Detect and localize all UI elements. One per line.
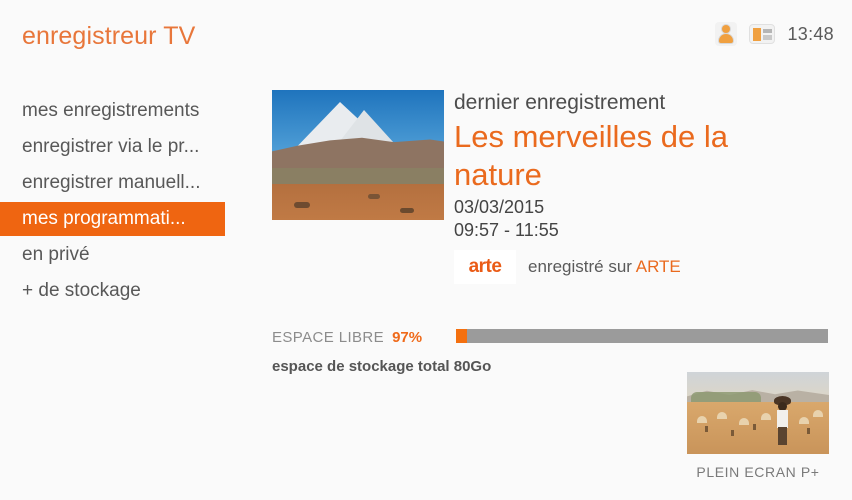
storage-total-label: espace de stockage total: [272, 358, 450, 375]
clock: 13:48: [787, 24, 834, 45]
storage-bar-used: [456, 329, 467, 343]
storage-bar: [456, 329, 828, 343]
storage-free-percent: 97%: [392, 329, 422, 346]
section-label: dernier enregistrement: [454, 90, 852, 116]
sidebar-item-plus-de-stockage[interactable]: + de stockage: [0, 274, 240, 308]
channel-name: ARTE: [636, 257, 681, 276]
pip-figure: [705, 426, 708, 432]
storage-free-row: ESPACE LIBRE 97%: [272, 328, 832, 346]
pip-mound: [813, 410, 823, 417]
pip-person-body: [777, 410, 788, 428]
id-card-line-1: [763, 29, 772, 33]
status-area: 13:48: [715, 22, 834, 46]
pip-mound: [717, 412, 727, 419]
pip-mound: [799, 417, 809, 424]
storage-free-label: ESPACE LIBRE: [272, 329, 384, 346]
pip-figure: [807, 428, 810, 434]
pip-video[interactable]: [687, 372, 829, 454]
id-card-line-2: [763, 35, 772, 40]
thumbnail-rock: [368, 194, 380, 199]
sidebar-item-enregistrer-via-le-programme[interactable]: enregistrer via le pr...: [0, 130, 240, 164]
pip-figure: [731, 430, 734, 436]
tv-recorder-screen: enregistreur TV 13:48 mes enregistrement…: [0, 0, 852, 500]
sidebar-item-en-prive[interactable]: en privé: [0, 238, 240, 272]
channel-row: arte enregistré sur ARTE: [454, 250, 852, 284]
pip-panel: PLEIN ECRAN P+: [687, 372, 829, 480]
recording-title: Les merveilles de la nature: [454, 118, 784, 194]
pip-mound: [761, 413, 771, 420]
user-icon[interactable]: [715, 22, 737, 46]
pip-mound: [697, 416, 707, 423]
storage-section: ESPACE LIBRE 97% espace de stockage tota…: [272, 328, 832, 375]
sidebar-item-mes-programmations[interactable]: mes programmati...: [0, 202, 225, 236]
sidebar-item-mes-enregistrements[interactable]: mes enregistrements: [0, 94, 240, 128]
pip-figure: [753, 424, 756, 430]
sidebar-menu: mes enregistrements enregistrer via le p…: [0, 94, 240, 310]
recorded-on-text: enregistré sur ARTE: [528, 257, 681, 277]
pip-person-legs: [778, 427, 787, 445]
recording-date: 03/03/2015: [454, 196, 852, 219]
pip-mound: [739, 418, 749, 425]
recording-thumbnail[interactable]: [272, 90, 444, 220]
recording-info: dernier enregistrement Les merveilles de…: [454, 90, 852, 284]
storage-total-size: 80Go: [454, 358, 492, 375]
app-title: enregistreur TV: [22, 22, 195, 51]
sidebar-item-enregistrer-manuellement[interactable]: enregistrer manuell...: [0, 166, 240, 200]
id-card-icon[interactable]: [749, 24, 775, 44]
id-card-photo: [753, 28, 761, 41]
header-bar: enregistreur TV 13:48: [0, 0, 852, 68]
arte-logo: arte: [454, 250, 516, 284]
recorded-on-prefix: enregistré sur: [528, 257, 632, 276]
pip-label: PLEIN ECRAN P+: [687, 464, 829, 480]
thumbnail-rock: [400, 208, 414, 213]
recording-time-range: 09:57 - 11:55: [454, 219, 852, 242]
thumbnail-rock: [294, 202, 310, 208]
